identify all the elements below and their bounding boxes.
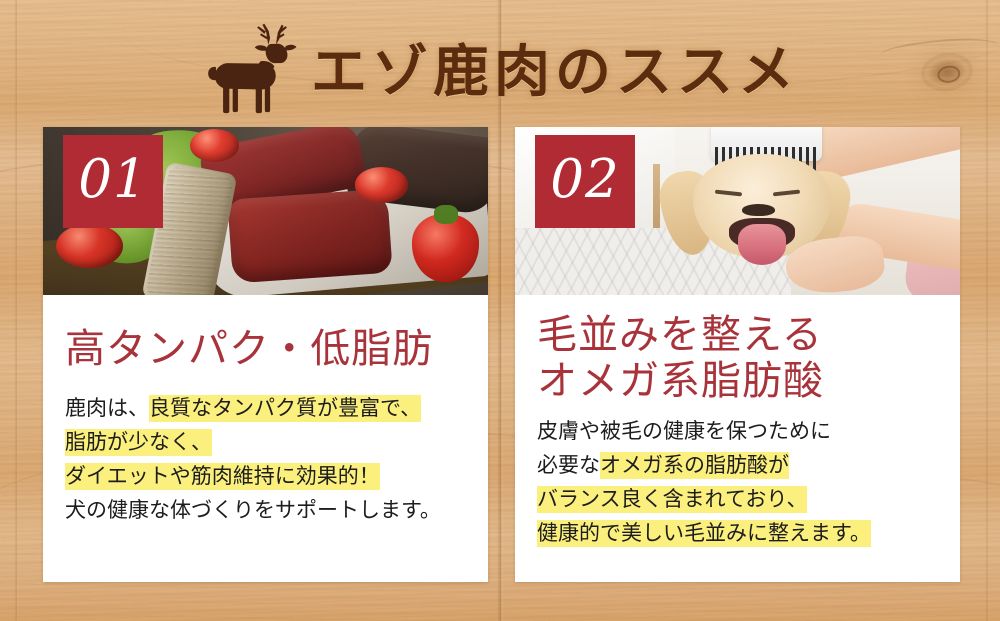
highlighted-text: オメガ系の脂肪酸が bbox=[600, 452, 789, 479]
card-02-text-line: 皮膚や被毛の健康を保つために bbox=[537, 414, 938, 448]
highlighted-text: 良質なタンパク質が豊富で、 bbox=[149, 395, 421, 422]
card-01-text-line: 鹿肉は、良質なタンパク質が豊富で、 bbox=[65, 391, 466, 425]
highlighted-text: バランス良く含まれており、 bbox=[537, 486, 807, 513]
highlighted-text: 脂肪が少なく、 bbox=[65, 429, 212, 456]
poster-header: エゾ鹿肉のススメ bbox=[0, 14, 1000, 120]
card-02-number-badge: 02 bbox=[535, 135, 635, 228]
feature-card-01: 01 高タンパク・低脂肪 鹿肉は、良質なタンパク質が豊富で、 脂肪が少なく、 ダ… bbox=[43, 127, 488, 582]
card-01-text: 鹿肉は、良質なタンパク質が豊富で、 脂肪が少なく、 ダイエットや筋肉維持に効果的… bbox=[65, 391, 466, 527]
feature-cards: 01 高タンパク・低脂肪 鹿肉は、良質なタンパク質が豊富で、 脂肪が少なく、 ダ… bbox=[43, 127, 960, 582]
card-02-body: 毛並みを整える オメガ系脂肪酸 皮膚や被毛の健康を保つために 必要なオメガ系の脂… bbox=[515, 295, 960, 582]
card-02-photo: 02 bbox=[515, 127, 960, 295]
card-02-text-line: バランス良く含まれており、 bbox=[537, 482, 938, 516]
poster-root: エゾ鹿肉のススメ bbox=[0, 0, 1000, 621]
card-02-number: 02 bbox=[550, 153, 619, 206]
card-02-text-line: 必要なオメガ系の脂肪酸が bbox=[537, 448, 938, 482]
card-02-heading: 毛並みを整える オメガ系脂肪酸 bbox=[537, 313, 938, 404]
card-01-body: 高タンパク・低脂肪 鹿肉は、良質なタンパク質が豊富で、 脂肪が少なく、 ダイエッ… bbox=[43, 295, 488, 582]
feature-card-02: 02 毛並みを整える オメガ系脂肪酸 皮膚や被毛の健康を保つために 必要なオメガ… bbox=[515, 127, 960, 582]
deer-silhouette-icon bbox=[201, 19, 297, 115]
card-01-text-line: 犬の健康な体づくりをサポートします。 bbox=[65, 493, 466, 527]
card-01-number-badge: 01 bbox=[63, 135, 163, 228]
card-02-text: 皮膚や被毛の健康を保つために 必要なオメガ系の脂肪酸が バランス良く含まれており… bbox=[537, 414, 938, 550]
card-01-text-line: ダイエットや筋肉維持に効果的！ bbox=[65, 459, 466, 493]
page-title: エゾ鹿肉のススメ bbox=[311, 27, 799, 108]
highlighted-text: ダイエットや筋肉維持に効果的！ bbox=[65, 463, 380, 490]
card-01-text-line: 脂肪が少なく、 bbox=[65, 425, 466, 459]
card-02-text-line: 健康的で美しい毛並みに整えます。 bbox=[537, 516, 938, 550]
card-01-photo: 01 bbox=[43, 127, 488, 295]
card-01-heading: 高タンパク・低脂肪 bbox=[65, 327, 466, 373]
highlighted-text: 健康的で美しい毛並みに整えます。 bbox=[537, 520, 871, 547]
card-01-number: 01 bbox=[78, 153, 147, 206]
